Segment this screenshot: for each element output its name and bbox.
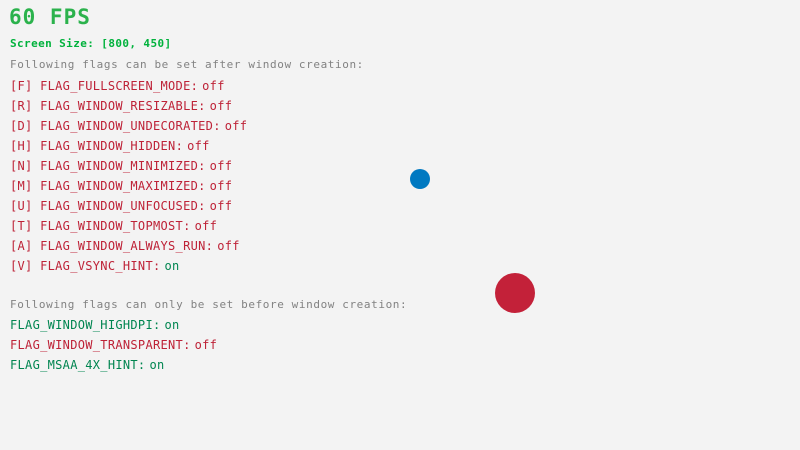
flag-colon: : xyxy=(198,159,206,173)
flag-value: off xyxy=(210,199,233,213)
flag-row[interactable]: [N] FLAG_WINDOW_MINIMIZED:off xyxy=(10,159,232,173)
flag-name: FLAG_WINDOW_MAXIMIZED xyxy=(40,179,198,193)
flag-value: off xyxy=(202,79,225,93)
flag-row[interactable]: [U] FLAG_WINDOW_UNFOCUSED:off xyxy=(10,199,232,213)
flag-shortcut-key: [D] xyxy=(10,119,33,133)
flag-row[interactable]: [A] FLAG_WINDOW_ALWAYS_RUN:off xyxy=(10,239,240,253)
flag-row[interactable]: [V] FLAG_VSYNC_HINT:on xyxy=(10,259,180,273)
flag-shortcut-key: [T] xyxy=(10,219,33,233)
flag-colon: : xyxy=(176,139,184,153)
flag-shortcut-key: [F] xyxy=(10,79,33,93)
flag-colon: : xyxy=(153,259,161,273)
flag-name: FLAG_WINDOW_ALWAYS_RUN xyxy=(40,239,206,253)
flag-row[interactable]: FLAG_WINDOW_HIGHDPI:on xyxy=(10,318,180,332)
flag-row[interactable]: [M] FLAG_WINDOW_MAXIMIZED:off xyxy=(10,179,232,193)
flag-name: FLAG_MSAA_4X_HINT xyxy=(10,358,138,372)
flag-colon: : xyxy=(198,199,206,213)
flag-value: off xyxy=(210,179,233,193)
flag-shortcut-key: [U] xyxy=(10,199,33,213)
flag-value: off xyxy=(195,219,218,233)
flag-shortcut-key: [H] xyxy=(10,139,33,153)
flag-name: FLAG_WINDOW_TOPMOST xyxy=(40,219,183,233)
flag-name: FLAG_WINDOW_UNDECORATED xyxy=(40,119,213,133)
flag-name: FLAG_VSYNC_HINT xyxy=(40,259,153,273)
flag-name: FLAG_FULLSCREEN_MODE xyxy=(40,79,191,93)
flag-colon: : xyxy=(198,179,206,193)
screen-size-label: Screen Size: [800, 450] xyxy=(10,37,172,51)
flag-name: FLAG_WINDOW_UNFOCUSED xyxy=(40,199,198,213)
flag-value: off xyxy=(195,338,218,352)
flag-shortcut-key: [A] xyxy=(10,239,33,253)
section-heading-after-creation: Following flags can be set after window … xyxy=(10,58,364,72)
flag-colon: : xyxy=(138,358,146,372)
blue-circle-shape xyxy=(410,169,430,189)
flag-value: on xyxy=(165,259,180,273)
flag-name: FLAG_WINDOW_HIGHDPI xyxy=(10,318,153,332)
flag-colon: : xyxy=(153,318,161,332)
flag-name: FLAG_WINDOW_RESIZABLE xyxy=(40,99,198,113)
flag-value: off xyxy=(187,139,210,153)
section-heading-before-creation: Following flags can only be set before w… xyxy=(10,298,407,312)
flag-row[interactable]: [F] FLAG_FULLSCREEN_MODE:off xyxy=(10,79,225,93)
flag-row[interactable]: [R] FLAG_WINDOW_RESIZABLE:off xyxy=(10,99,232,113)
flag-shortcut-key: [R] xyxy=(10,99,33,113)
raylib-window-canvas: 60 FPS Screen Size: [800, 450] Following… xyxy=(0,0,800,450)
flag-row[interactable]: [T] FLAG_WINDOW_TOPMOST:off xyxy=(10,219,217,233)
flag-value: off xyxy=(217,239,240,253)
flag-shortcut-key: [M] xyxy=(10,179,33,193)
flag-value: on xyxy=(165,318,180,332)
flag-value: on xyxy=(149,358,164,372)
flag-shortcut-key: [V] xyxy=(10,259,33,273)
flag-colon: : xyxy=(198,99,206,113)
flag-row[interactable]: FLAG_WINDOW_TRANSPARENT:off xyxy=(10,338,217,352)
flag-colon: : xyxy=(191,79,199,93)
red-circle-shape xyxy=(495,273,535,313)
flag-colon: : xyxy=(213,119,221,133)
flag-row[interactable]: [D] FLAG_WINDOW_UNDECORATED:off xyxy=(10,119,247,133)
flag-colon: : xyxy=(206,239,214,253)
flag-row[interactable]: [H] FLAG_WINDOW_HIDDEN:off xyxy=(10,139,210,153)
flag-value: off xyxy=(210,99,233,113)
flag-row[interactable]: FLAG_MSAA_4X_HINT:on xyxy=(10,358,165,372)
flag-name: FLAG_WINDOW_MINIMIZED xyxy=(40,159,198,173)
flag-colon: : xyxy=(183,219,191,233)
flag-name: FLAG_WINDOW_TRANSPARENT xyxy=(10,338,183,352)
flag-value: off xyxy=(225,119,248,133)
flag-shortcut-key: [N] xyxy=(10,159,33,173)
flag-value: off xyxy=(210,159,233,173)
flag-colon: : xyxy=(183,338,191,352)
fps-counter: 60 FPS xyxy=(9,5,91,29)
flag-name: FLAG_WINDOW_HIDDEN xyxy=(40,139,175,153)
